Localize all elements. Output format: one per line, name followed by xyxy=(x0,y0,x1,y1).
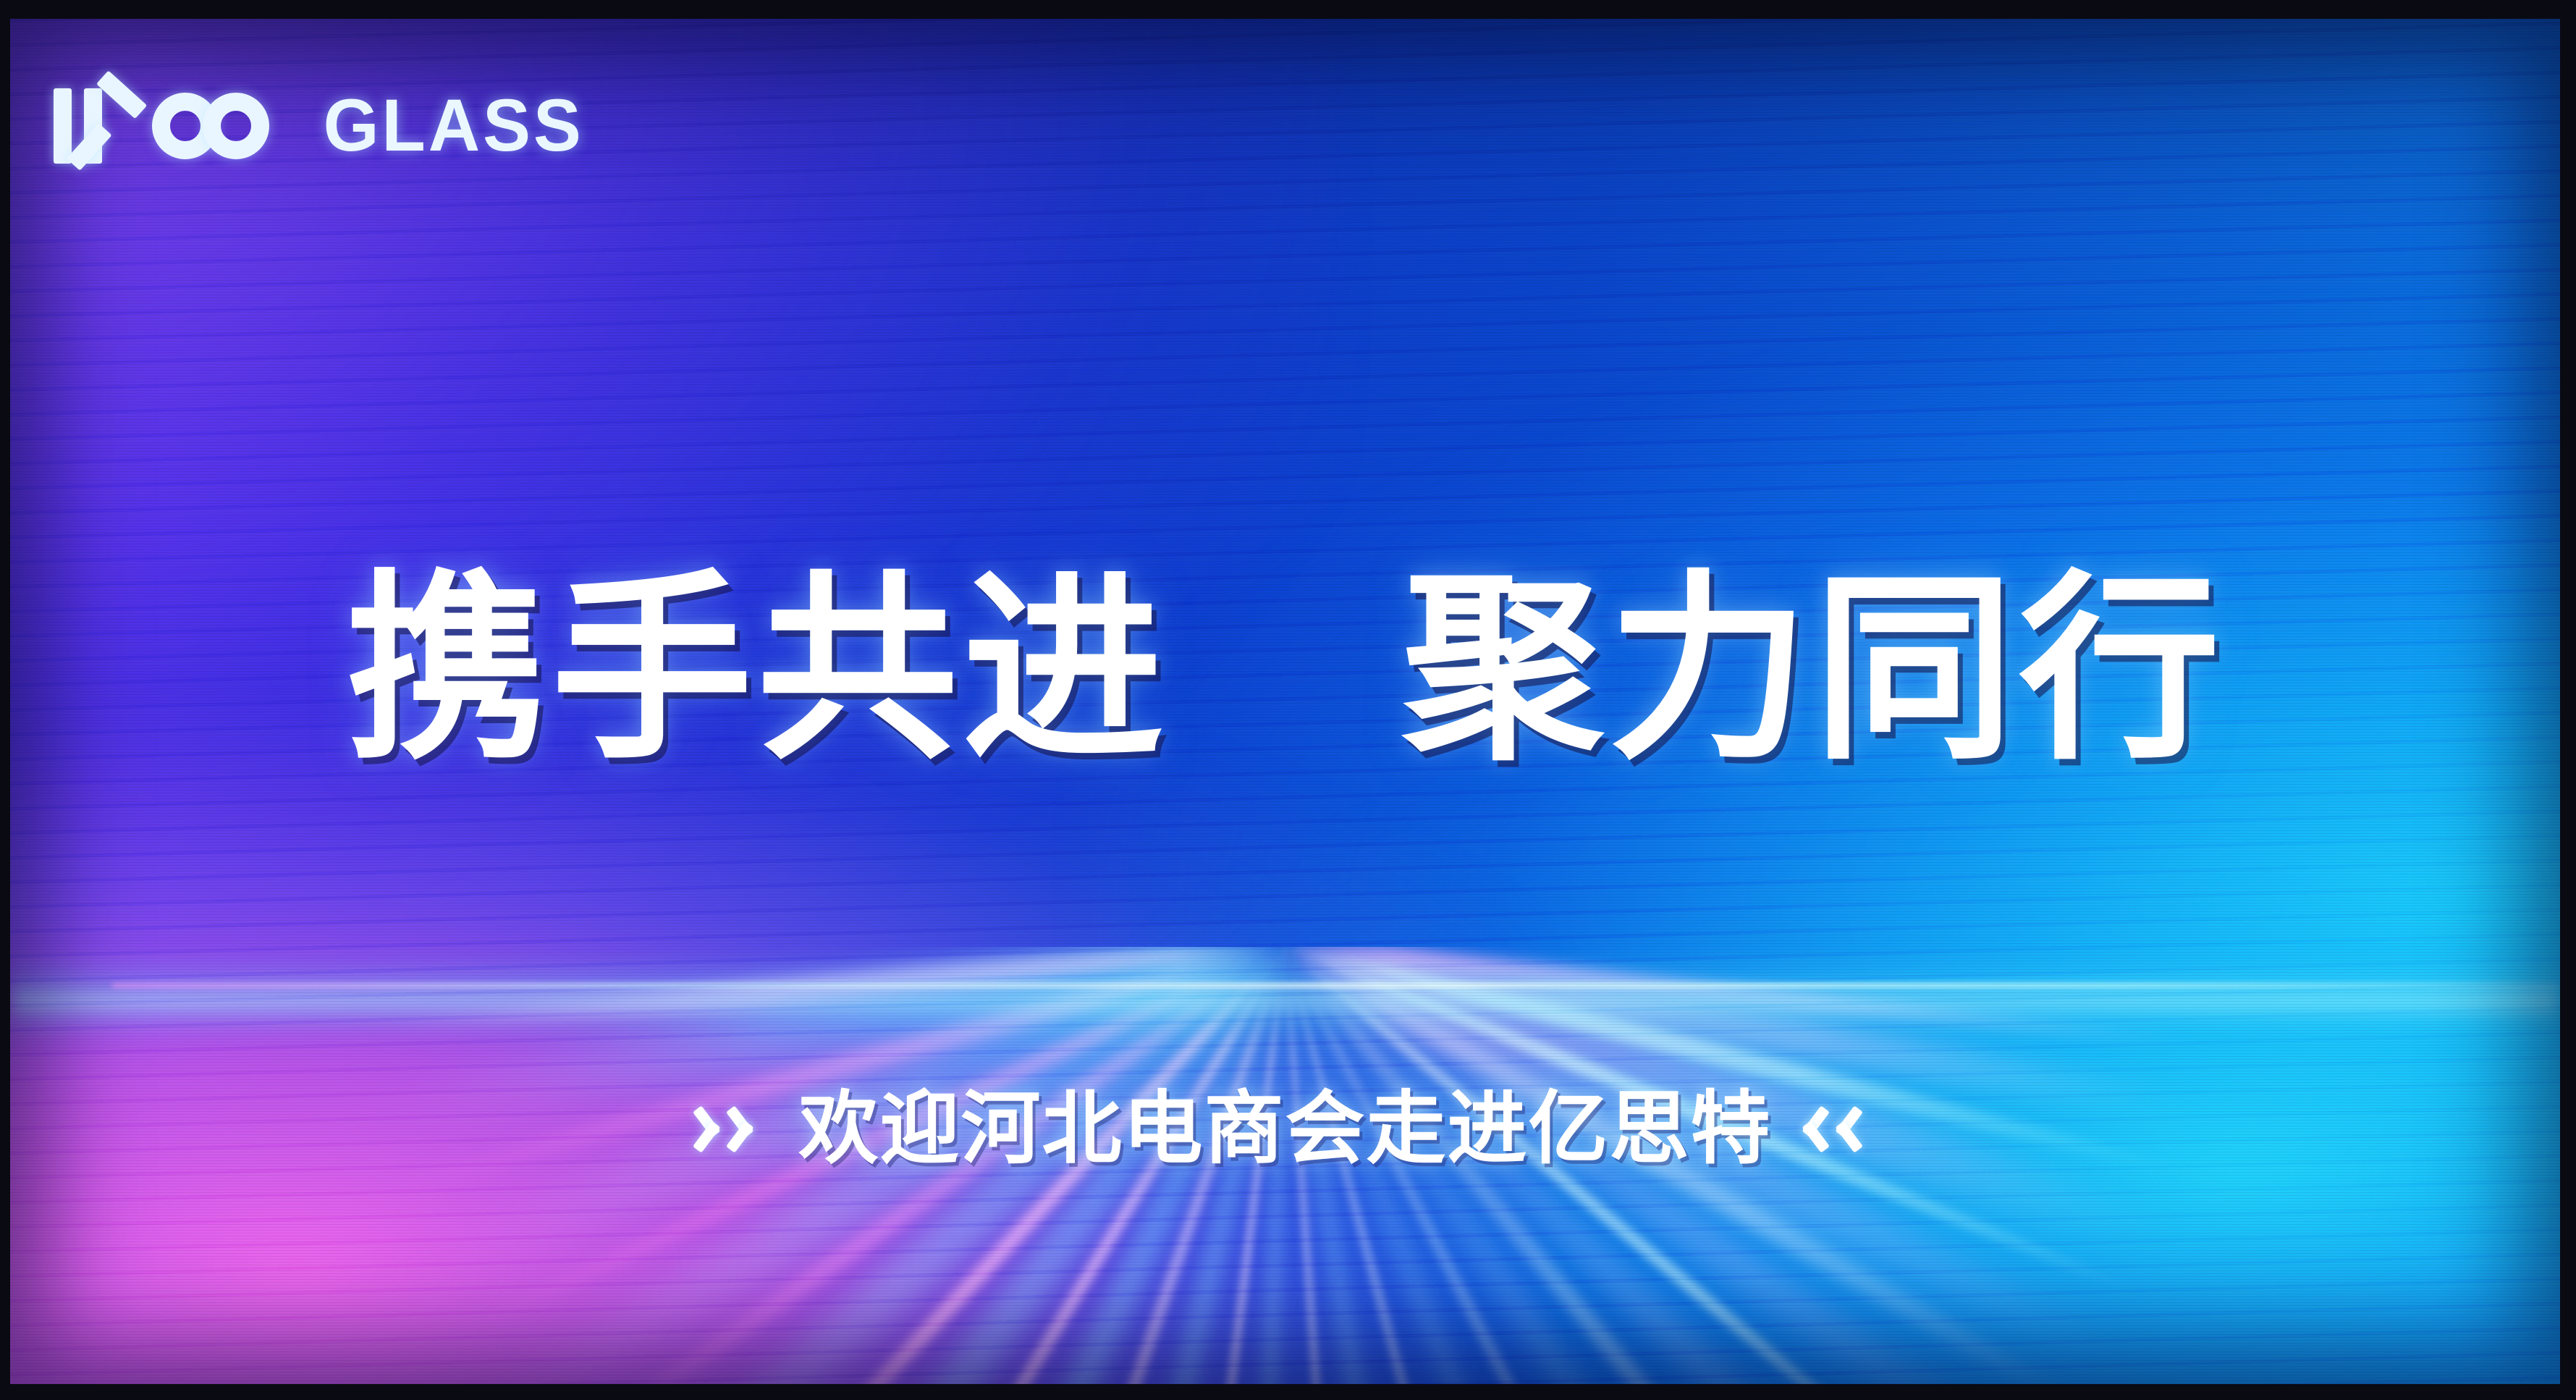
chevron-right-double-icon xyxy=(708,1102,773,1155)
page-title: 携手共进 聚力同行 xyxy=(10,569,2560,770)
ikoo-wordmark xyxy=(54,88,286,164)
double-ring-infinity-icon xyxy=(152,88,286,164)
led-screen-bezel: GLASS 携手共进 聚力同行 欢迎河北电商会走进亿思特 xyxy=(0,0,2576,1400)
logo-letter-k xyxy=(84,88,140,164)
subtitle-row: 欢迎河北电商会走进亿思特 xyxy=(10,1089,2560,1168)
headline-part-1: 携手共进 xyxy=(346,552,1168,787)
brand-logo: GLASS xyxy=(54,88,588,164)
chevron-left-double-icon xyxy=(1798,1102,1863,1155)
glass-wordmark: GLASS xyxy=(324,94,584,158)
subtitle-text: 欢迎河北电商会走进亿思特 xyxy=(799,1089,1772,1168)
led-screen-surface: GLASS 携手共进 聚力同行 欢迎河北电商会走进亿思特 xyxy=(10,19,2560,1384)
logo-letter-i xyxy=(54,88,72,164)
headline-part-2: 聚力同行 xyxy=(1402,552,2224,787)
